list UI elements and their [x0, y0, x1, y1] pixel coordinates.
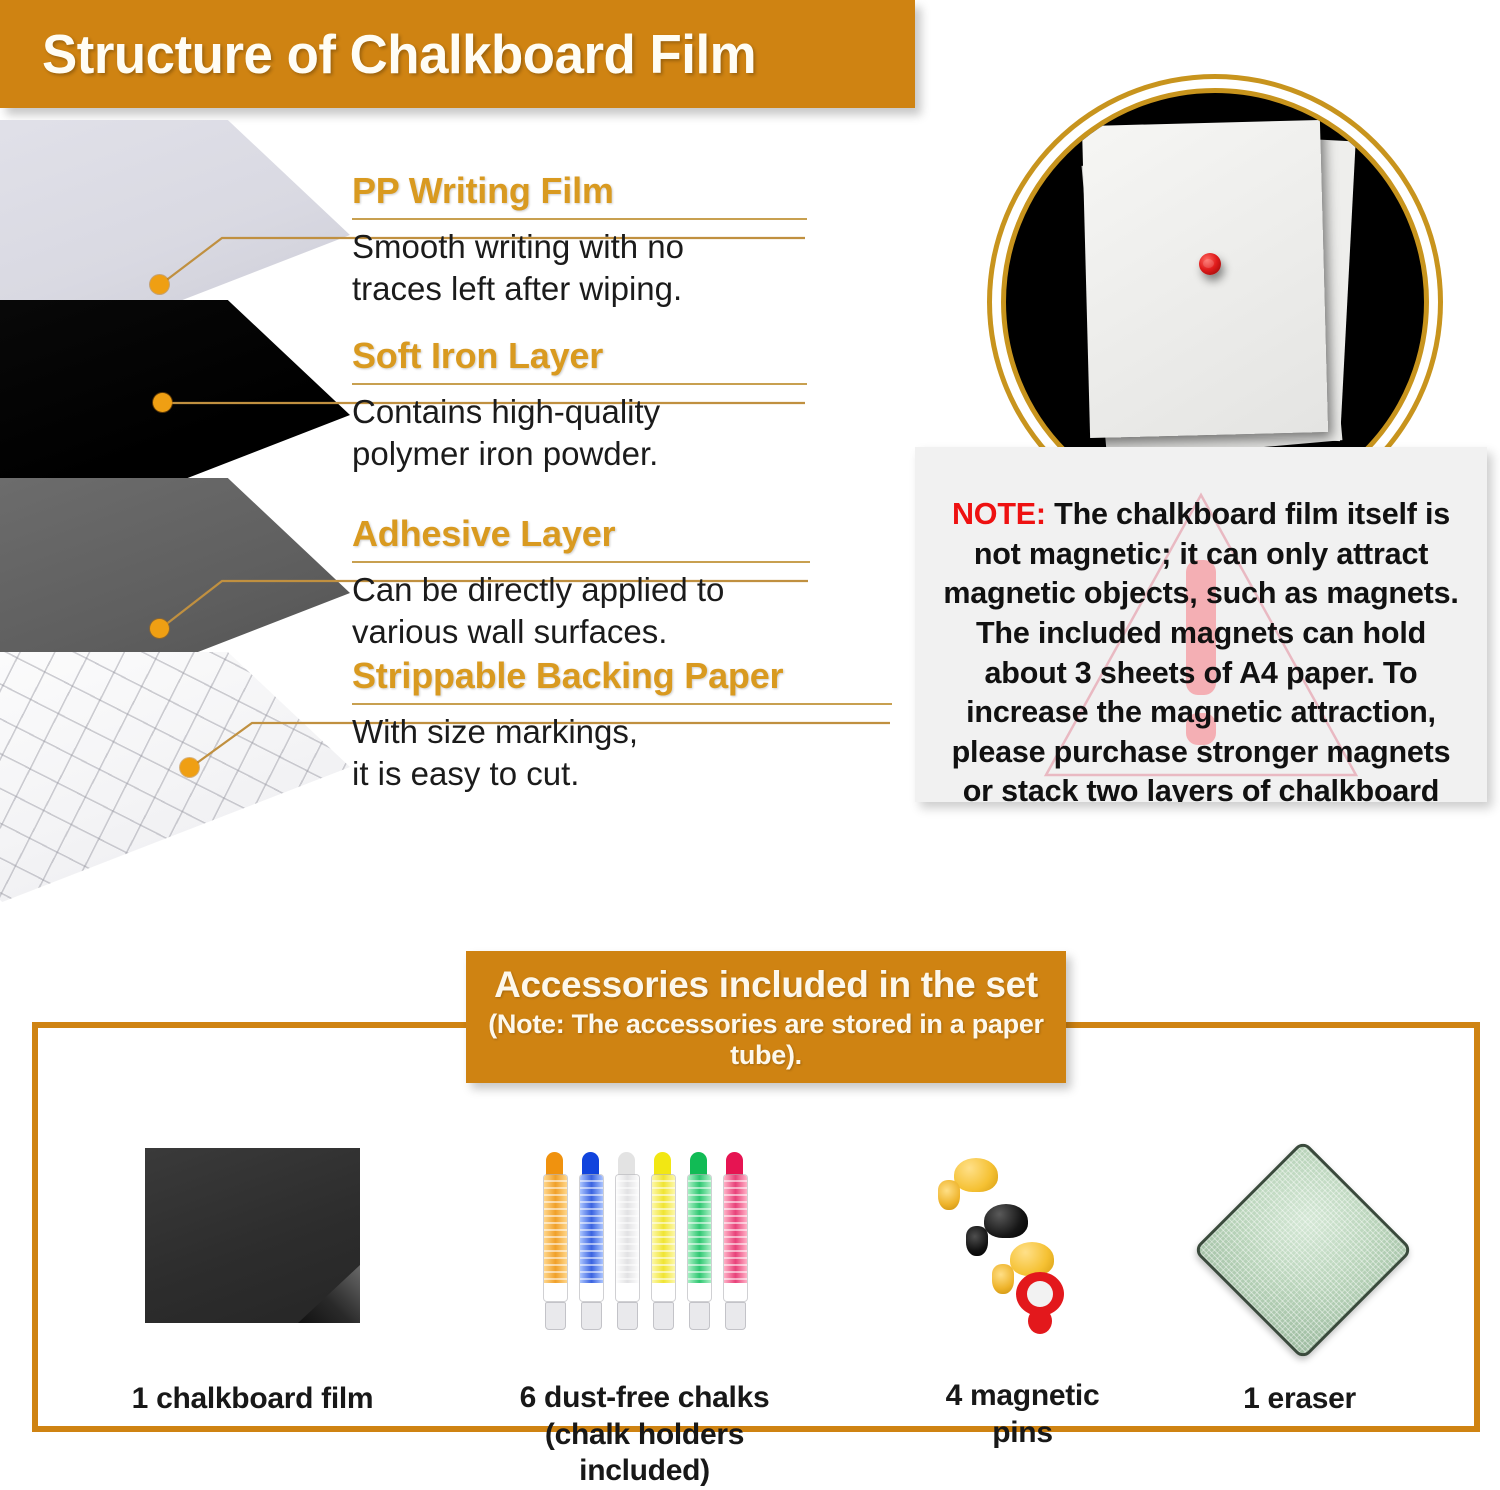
- magnetic-pins-icon: [928, 1150, 1118, 1330]
- callout-rule: [352, 218, 807, 220]
- callout-rule: [352, 703, 892, 705]
- eraser-cloth-icon: [1212, 1148, 1387, 1333]
- accessory-item-chalkboard-film: 1 chalkboard film: [115, 1148, 390, 1418]
- note-panel: NOTE: The chalkboard film itself is not …: [915, 447, 1487, 802]
- note-body: The chalkboard film itself is not magnet…: [943, 497, 1458, 802]
- callout-rule: [352, 383, 807, 385]
- callout-soft-iron-layer: Soft Iron Layer Contains high-quality po…: [352, 335, 807, 474]
- note-label: NOTE:: [952, 497, 1046, 531]
- callout-heading: Soft Iron Layer: [352, 335, 807, 383]
- callout-body: Smooth writing with no traces left after…: [352, 226, 807, 309]
- accessories-banner-note: (Note: The accessories are stored in a p…: [466, 1009, 1066, 1071]
- callout-body: Can be directly applied to various wall …: [352, 569, 810, 652]
- a4-paper-sheet: [1082, 120, 1328, 438]
- callout-heading: PP Writing Film: [352, 170, 807, 218]
- callout-dot-backing-paper: [180, 758, 199, 777]
- chalk-stick: [540, 1152, 569, 1330]
- callout-body: With size markings, it is easy to cut.: [352, 711, 892, 794]
- chalk-stick: [612, 1152, 641, 1330]
- callout-dot-adhesive: [150, 619, 169, 638]
- chalk-stick: [576, 1152, 605, 1330]
- accessories-banner-title: Accessories included in the set: [494, 964, 1038, 1006]
- chalkboard-film-icon: [145, 1148, 360, 1323]
- callout-heading: Strippable Backing Paper: [352, 655, 892, 703]
- accessory-item-chalks: 6 dust-free chalks (chalk holders includ…: [512, 1148, 777, 1490]
- accessory-caption: 6 dust-free chalks (chalk holders includ…: [512, 1380, 777, 1490]
- chalk-stick: [648, 1152, 677, 1330]
- chalk-stick: [684, 1152, 713, 1330]
- callout-body: Contains high-quality polymer iron powde…: [352, 391, 807, 474]
- callout-heading: Adhesive Layer: [352, 513, 810, 561]
- callout-dot-pp-writing-film: [150, 275, 169, 294]
- note-text: NOTE: The chalkboard film itself is not …: [915, 447, 1487, 802]
- accessory-item-eraser: 1 eraser: [1212, 1148, 1387, 1418]
- callout-strippable-backing-paper: Strippable Backing Paper With size marki…: [352, 655, 892, 794]
- accessory-item-magnetic-pins: 4 magnetic pins: [925, 1150, 1120, 1451]
- accessories-banner: Accessories included in the set (Note: T…: [466, 951, 1066, 1083]
- callout-pp-writing-film: PP Writing Film Smooth writing with no t…: [352, 170, 807, 309]
- accessory-caption: 1 eraser: [1212, 1381, 1387, 1418]
- accessory-caption: 1 chalkboard film: [115, 1381, 390, 1418]
- chalk-stick: [720, 1152, 749, 1330]
- accessory-caption: 4 magnetic pins: [925, 1378, 1120, 1451]
- callout-adhesive-layer: Adhesive Layer Can be directly applied t…: [352, 513, 810, 652]
- chalk-sticks-icon: [526, 1148, 764, 1330]
- callout-rule: [352, 561, 810, 563]
- callout-dot-soft-iron: [153, 393, 172, 412]
- red-magnet-pin-icon: [1199, 253, 1221, 275]
